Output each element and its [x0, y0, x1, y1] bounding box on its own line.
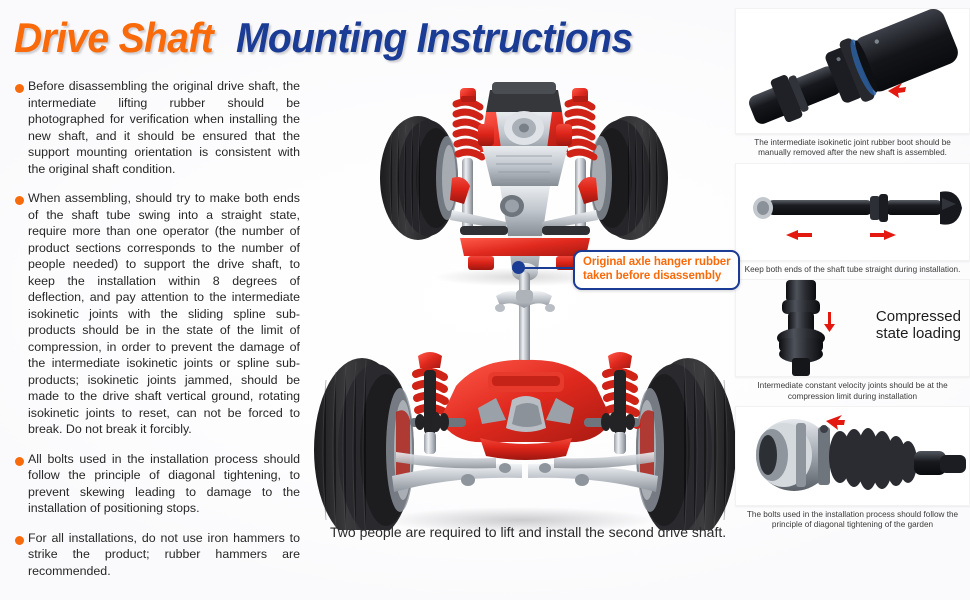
- callout-anchor-dot: [512, 261, 525, 274]
- overlay-line-1: Compressed: [876, 308, 961, 325]
- panel-caption: The intermediate isokinetic joint rubber…: [735, 134, 970, 159]
- front-left-coilover: [456, 88, 482, 230]
- list-item: When assembling, should try to make both…: [8, 190, 300, 438]
- bullet-dot-icon: [15, 84, 24, 93]
- panel-shaft-straight: Keep both ends of the shaft tube straigh…: [735, 163, 970, 275]
- callout-original-axle-hanger: Original axle hanger rubber taken before…: [573, 250, 740, 290]
- rear-axle-assembly: [314, 352, 736, 530]
- panel-image-bolts-diagonal: [735, 406, 970, 506]
- list-item: Before disassembling the original drive …: [8, 78, 300, 177]
- panel-image-compressed-state: Compressed state loading: [735, 279, 970, 377]
- panel-caption: Keep both ends of the shaft tube straigh…: [735, 261, 970, 275]
- page-title: Drive ShaftMounting Instructions: [14, 14, 662, 62]
- bottom-caption: Two people are required to lift and inst…: [330, 524, 750, 540]
- overlay-line-2: state loading: [876, 325, 961, 342]
- panel-bolts-diagonal: The bolts used in the installation proce…: [735, 406, 970, 531]
- front-right-coilover: [568, 88, 594, 230]
- instructions-list: Before disassembling the original drive …: [8, 78, 300, 592]
- reference-photo-panels: The intermediate isokinetic joint rubber…: [735, 8, 970, 596]
- callout-line-1: Original axle hanger rubber: [583, 256, 730, 270]
- list-item: For all installations, do not use iron h…: [8, 530, 300, 580]
- panel-image-shaft-straight: [735, 163, 970, 261]
- bullet-dot-icon: [15, 457, 24, 466]
- panel-overlay-text: Compressed state loading: [876, 308, 961, 342]
- panel-caption: Intermediate constant velocity joints sh…: [735, 377, 970, 402]
- bullet-dot-icon: [15, 196, 24, 205]
- bullet-dot-icon: [15, 536, 24, 545]
- callout-line-2: taken before disassembly: [583, 270, 730, 284]
- poster-root: Drive ShaftMounting Instructions Before …: [0, 0, 970, 600]
- instruction-text: For all installations, do not use iron h…: [28, 530, 300, 580]
- rear-subframe: [440, 360, 612, 460]
- list-item: All bolts used in the installation proce…: [8, 451, 300, 517]
- panel-rubber-boot: The intermediate isokinetic joint rubber…: [735, 8, 970, 159]
- instruction-text: When assembling, should try to make both…: [28, 190, 300, 438]
- title-part-mounting-instructions: Mounting Instructions: [236, 14, 632, 62]
- panel-image-rubber-boot: [735, 8, 970, 134]
- chassis-illustration: [300, 60, 750, 530]
- title-part-drive-shaft: Drive Shaft: [14, 14, 213, 62]
- instruction-text: All bolts used in the installation proce…: [28, 451, 300, 517]
- panel-compressed-state: Compressed state loading Intermediate co…: [735, 279, 970, 402]
- instruction-text: Before disassembling the original drive …: [28, 78, 300, 177]
- rear-right-coilover: [606, 352, 637, 454]
- panel-caption: The bolts used in the installation proce…: [735, 506, 970, 531]
- rear-left-coilover: [416, 352, 447, 454]
- callout-leader-line: [519, 267, 575, 269]
